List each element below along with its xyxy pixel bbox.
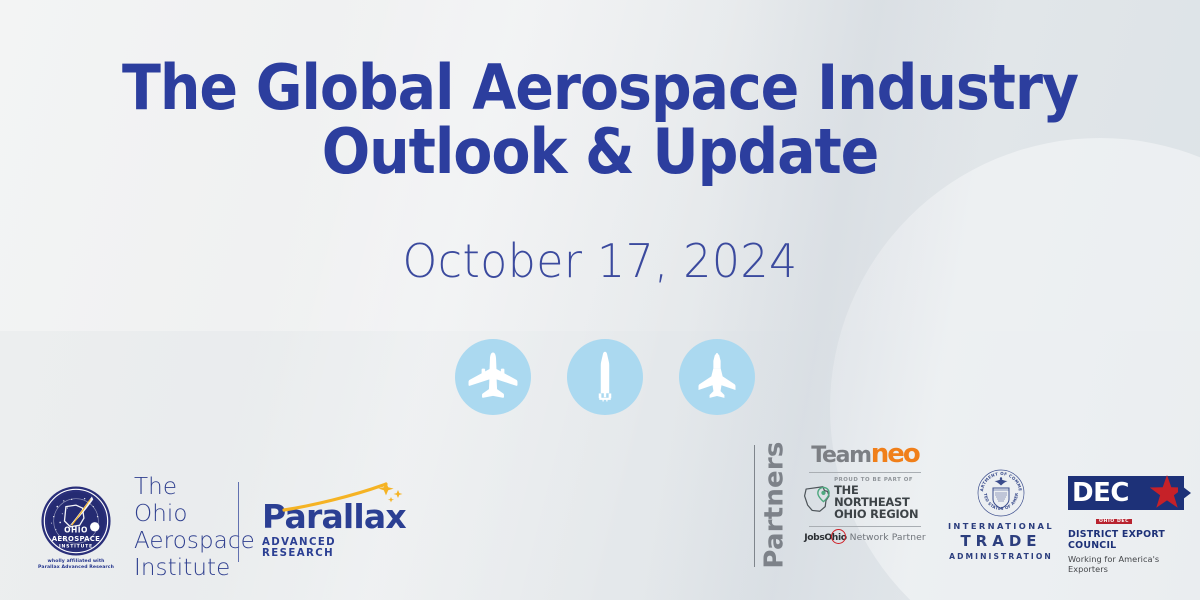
ita-line-2: TRADE [946, 532, 1056, 550]
parallax-swoosh-icon [282, 482, 412, 512]
dec-star-icon [1150, 473, 1196, 513]
svg-text:OHIO: OHIO [64, 525, 88, 534]
partners-logo-column: Teamneo PROUD TO BE PART OF THE NORTHEAS… [800, 436, 930, 548]
international-trade-administration-logo: DEPARTMENT OF COMMERCE UNITED STATES OF … [946, 468, 1056, 561]
dec-chapter-label: OHIO DEC [1096, 519, 1132, 524]
jobsohio-brand: JobsOhio [804, 532, 846, 543]
jobsohio-network-partner-logo: JobsOhio Network Partner [800, 527, 930, 548]
aerospace-icon-row [455, 332, 755, 422]
jobsohio-suffix: Network Partner [850, 532, 926, 543]
parallax-advanced-research-logo: Parallax ADVANCED RESEARCH [262, 482, 402, 559]
commercial-airplane-icon [455, 339, 531, 415]
oai-wordmark-line-1: The [134, 474, 255, 501]
location-pin-icon [817, 486, 830, 503]
dec-tagline: Working for America's Exporters [1068, 554, 1184, 574]
oai-affiliation-caption: wholly affiliated with Parallax Advanced… [32, 559, 120, 571]
ohio-aerospace-institute-logo: OHIO AEROSPACE INSTITUTE wholly affiliat… [32, 474, 255, 582]
district-export-council-logo: DEC OHIO DEC DISTRICT EXPORT COUNCIL Wor… [1068, 476, 1184, 574]
svg-text:INSTITUTE: INSTITUTE [59, 543, 93, 549]
oai-wordmark-line-2: Ohio [134, 501, 255, 528]
title-line-1: The Global Aerospace Industry [122, 51, 1078, 124]
oai-affiliation-line-2: Parallax Advanced Research [32, 565, 120, 571]
rocket-icon [567, 339, 643, 415]
teamneo-accent-text: neo [871, 439, 919, 469]
neo-region-line-2: OHIO REGION [834, 508, 930, 520]
oai-wordmark-line-4: Institute [134, 555, 255, 582]
parallax-tagline: ADVANCED RESEARCH [262, 537, 402, 559]
ita-line-1: INTERNATIONAL [946, 521, 1056, 531]
presentation-title-slide: The Global Aerospace Industry Outlook & … [0, 0, 1200, 600]
event-date: October 17, 2024 [24, 234, 1176, 288]
dec-wordmark-block: DEC [1068, 476, 1184, 510]
dec-full-name: DISTRICT EXPORT COUNCIL [1068, 529, 1184, 551]
teamneo-primary-text: Team [811, 443, 871, 468]
dec-wordmark: DEC [1072, 480, 1129, 506]
oai-wordmark-line-3: Aerospace [134, 528, 255, 555]
partners-label-text: Partners [760, 441, 790, 568]
oai-seal-wrap: OHIO AEROSPACE INSTITUTE wholly affiliat… [32, 485, 120, 571]
us-commerce-seal-icon: DEPARTMENT OF COMMERCE UNITED STATES OF … [976, 468, 1026, 518]
fighter-jet-icon [679, 339, 755, 415]
page-title: The Global Aerospace Industry Outlook & … [48, 56, 1152, 184]
ita-line-3: ADMINISTRATION [946, 552, 1056, 561]
title-line-2: Outlook & Update [48, 120, 1152, 184]
title-block: The Global Aerospace Industry Outlook & … [0, 56, 1200, 184]
northeast-ohio-region-logo: PROUD TO BE PART OF THE NORTHEAST OHIO R… [800, 473, 930, 526]
logo-divider [238, 482, 239, 562]
neo-region-line-1: THE NORTHEAST [834, 484, 930, 509]
svg-text:AEROSPACE: AEROSPACE [52, 535, 100, 543]
teamneo-logo: Teamneo [800, 436, 930, 472]
oai-wordmark: The Ohio Aerospace Institute [134, 474, 255, 582]
oai-seal-icon: OHIO AEROSPACE INSTITUTE [40, 485, 112, 557]
partners-divider [754, 445, 755, 567]
